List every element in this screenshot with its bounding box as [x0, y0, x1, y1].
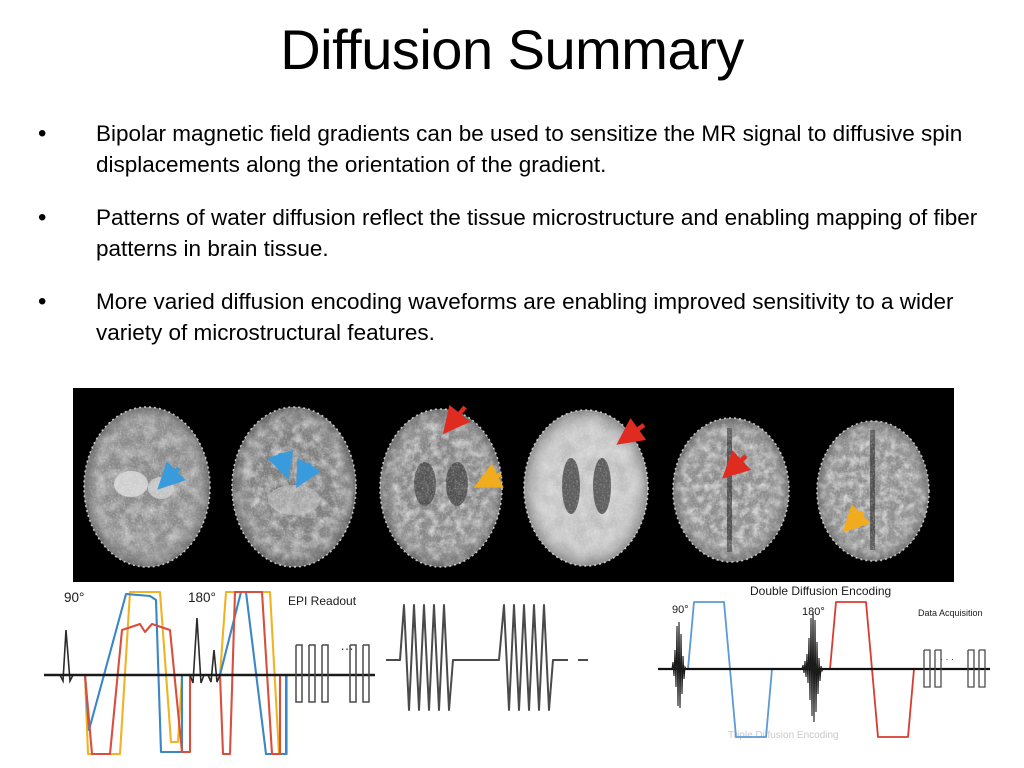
- rf-90-pulse: [55, 630, 78, 681]
- sequence-diagram-oscillating: [382, 582, 650, 768]
- bullet-list: • Bipolar magnetic field gradients can b…: [24, 118, 1014, 370]
- epi-readout-train: [296, 645, 369, 702]
- bullet-marker-icon: •: [24, 286, 96, 317]
- list-item: • Patterns of water diffusion reflect th…: [24, 202, 1014, 264]
- oscillating-gradient-trace: [386, 605, 588, 710]
- pgse-waveform-svg: [30, 582, 380, 768]
- sequence-diagram-dde: Double Diffusion Encoding 90° 180° Data …: [652, 582, 1024, 768]
- bullet-text: More varied diffusion encoding waveforms…: [96, 286, 1014, 348]
- rf-180-pulse: [802, 612, 823, 722]
- list-item: • Bipolar magnetic field gradients can b…: [24, 118, 1014, 180]
- oscillating-gradient-svg: [382, 582, 650, 768]
- rf-90-pulse: [672, 622, 686, 708]
- bullet-text: Patterns of water diffusion reflect the …: [96, 202, 1014, 264]
- dde-waveform-svg: [652, 582, 1024, 768]
- rf-180-pulse: [186, 618, 224, 683]
- pulse-sequence-diagrams: 90° 180° EPI Readout …: [0, 582, 1024, 768]
- list-item: • More varied diffusion encoding wavefor…: [24, 286, 1014, 348]
- brain-slices-image: [73, 388, 954, 582]
- bullet-marker-icon: •: [24, 118, 96, 149]
- sequence-diagram-pgse: 90° 180° EPI Readout …: [30, 582, 380, 768]
- bullet-marker-icon: •: [24, 202, 96, 233]
- brain-mri-figure: [73, 388, 954, 582]
- bullet-text: Bipolar magnetic field gradients can be …: [96, 118, 1014, 180]
- page-title: Diffusion Summary: [0, 22, 1024, 78]
